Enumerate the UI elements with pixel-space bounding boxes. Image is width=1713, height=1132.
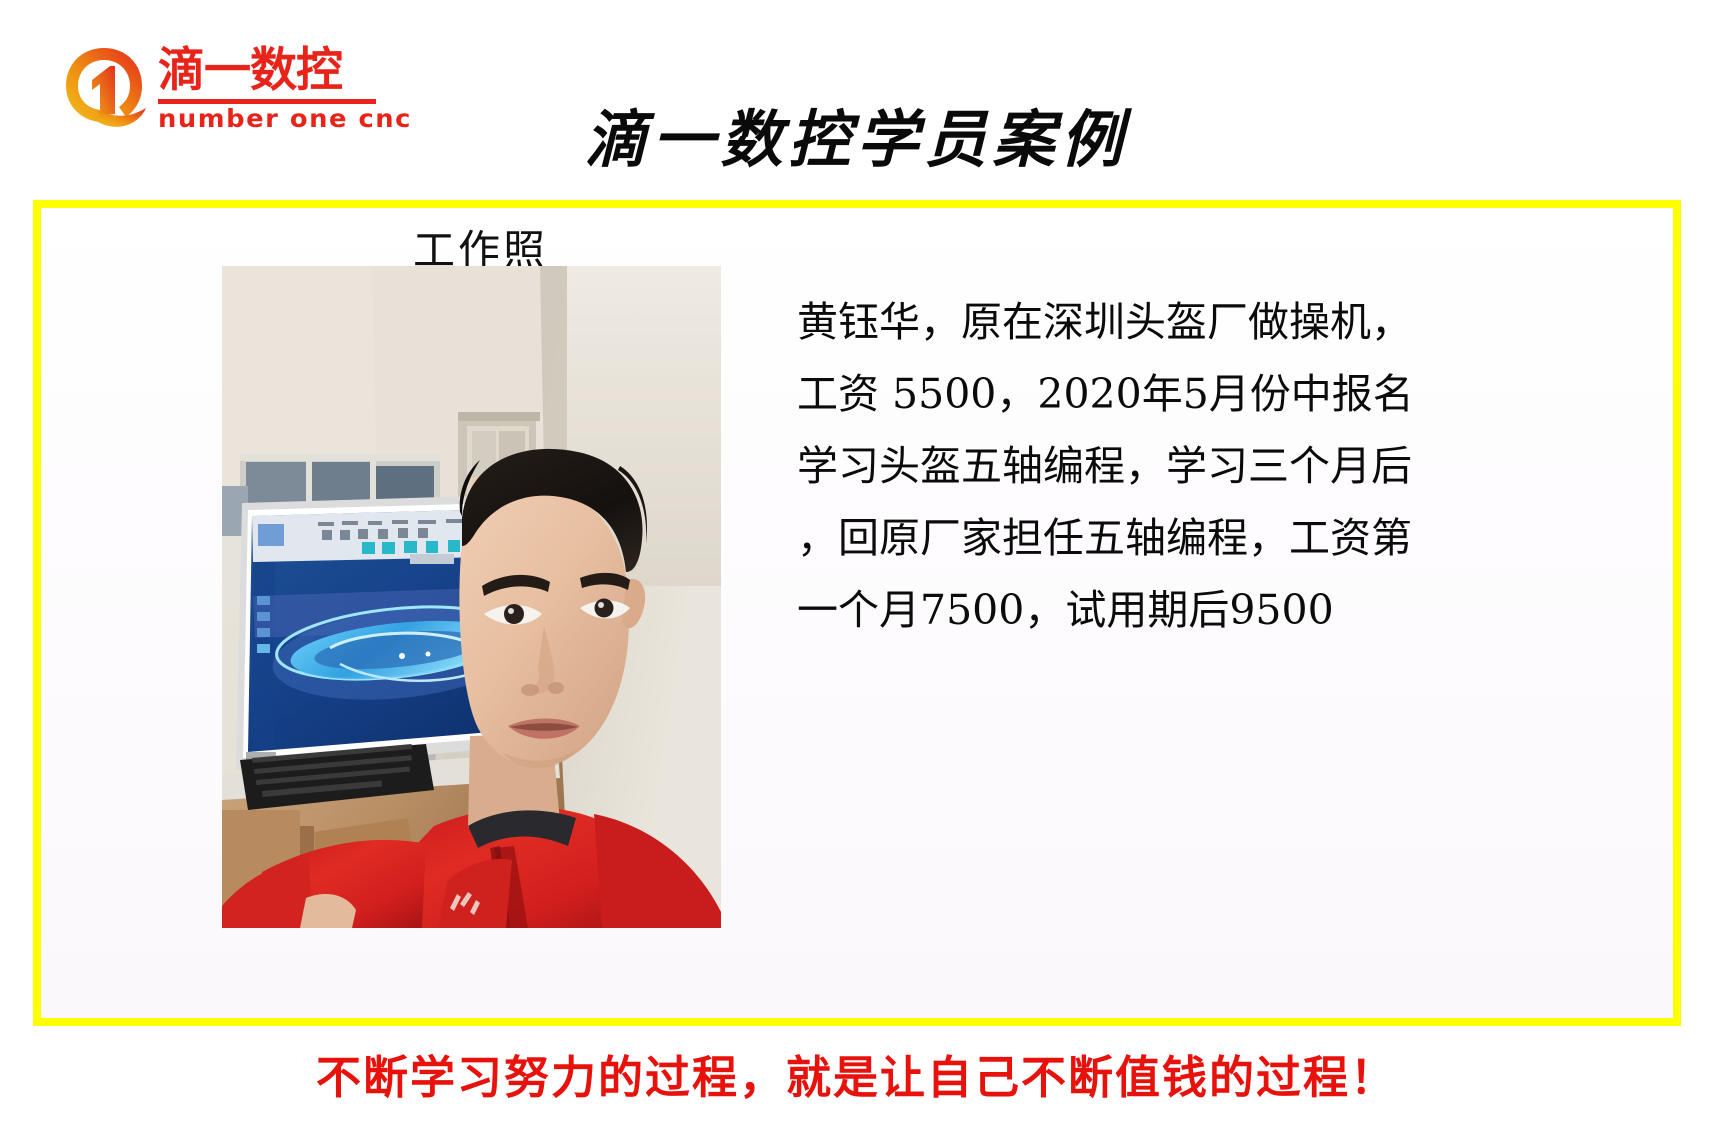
case-description-text: 黄钰华，原在深圳头盔厂做操机， 工资 5500，2020年5月份中报名 学习头盔… [797,286,1517,646]
brand-name-cn: 滴一数控 [158,44,378,98]
case-text-line: 学习头盔五轴编程，学习三个月后 [797,430,1517,502]
student-work-photo [222,266,721,928]
bottom-slogan: 不断学习努力的过程，就是让自己不断值钱的过程！ [0,1050,1713,1106]
case-text-line: 黄钰华，原在深圳头盔厂做操机， [797,286,1517,358]
page-header: 滴一数控 number one cnc 滴一数控学员案例 [0,0,1713,200]
case-text-line: ，回原厂家担任五轴编程，工资第 [797,502,1517,574]
page-title: 滴一数控学员案例 [0,104,1713,176]
case-text-line: 工资 5500，2020年5月份中报名 [797,358,1517,430]
case-text-line: 一个月7500，试用期后9500 [797,574,1517,646]
